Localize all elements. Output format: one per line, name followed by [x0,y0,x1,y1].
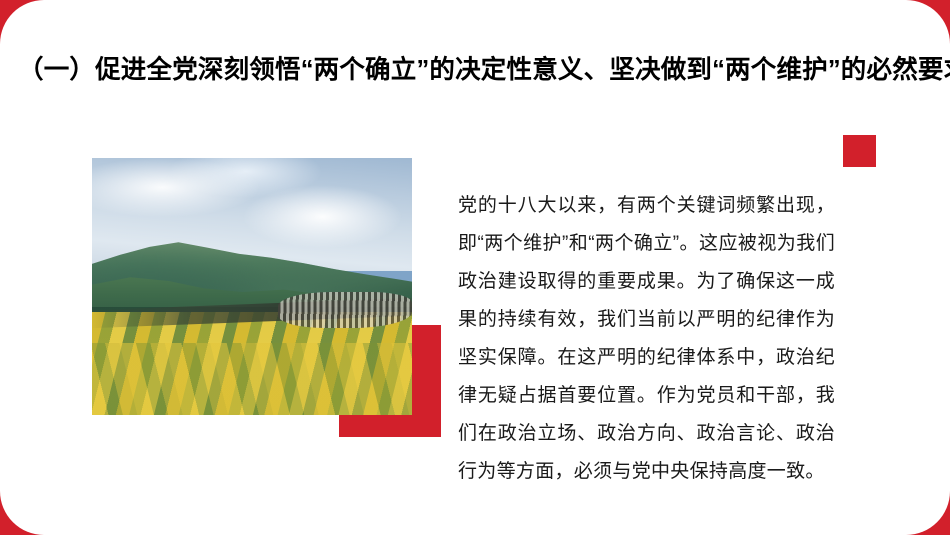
photo-village-layer [278,292,412,328]
landscape-photo [92,158,412,415]
photo-farmland-cross-layer [92,343,412,415]
accent-square-decoration [843,135,876,167]
body-paragraph: 党的十八大以来，有两个关键词频繁出现，即“两个维护”和“两个确立”。这应被视为我… [458,187,835,491]
slide-canvas: （一）促进全党深刻领悟“两个确立”的决定性意义、坚决做到“两个维护”的必然要求 … [0,0,950,535]
page-title: （一）促进全党深刻领悟“两个确立”的决定性意义、坚决做到“两个维护”的必然要求 [18,53,932,87]
